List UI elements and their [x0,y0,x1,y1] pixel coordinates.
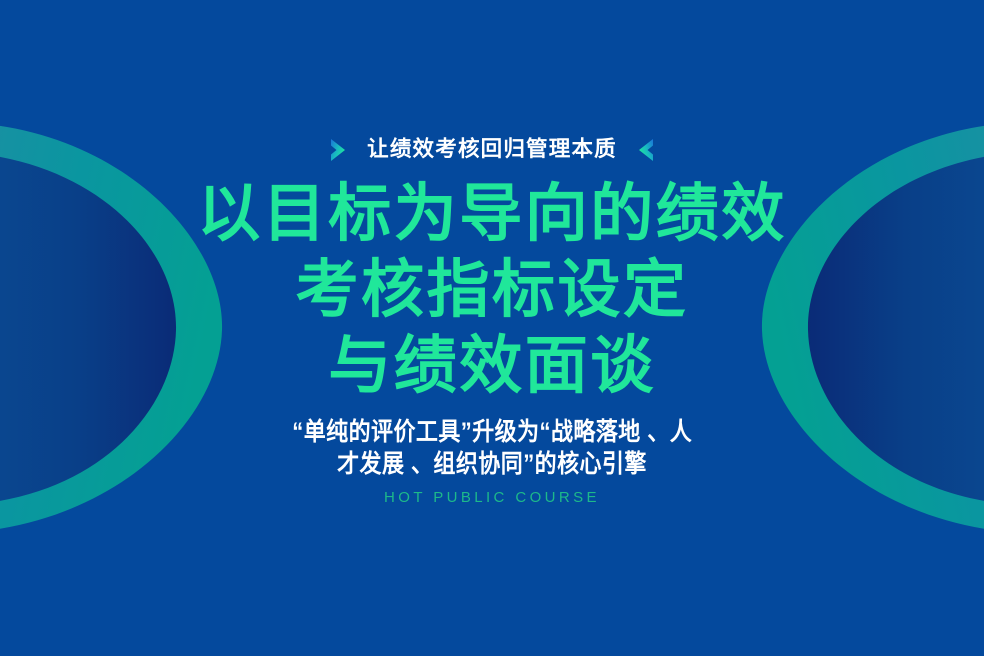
subheadline: “单纯的评价工具”升级为“战略落地 、人 才发展 、组织协同”的核心引擎 [265,416,719,480]
headline: 以目标为导向的绩效 考核指标设定 与绩效面谈 [197,176,787,404]
chevron-right-icon [328,137,350,163]
poster-content: 让绩效考核回归管理本质 以目标为导向的绩效 考核指标设定 与绩效面谈 “单纯的评… [0,0,984,656]
english-tagline: HOT PUBLIC COURSE [384,490,600,505]
subheadline-line-1: “单纯的评价工具”升级为“战略落地 、人 [292,416,692,448]
chevron-left-icon [634,137,656,163]
kicker-row: 让绩效考核回归管理本质 [328,133,656,167]
course-poster: 让绩效考核回归管理本质 以目标为导向的绩效 考核指标设定 与绩效面谈 “单纯的评… [0,0,984,656]
subheadline-line-2: 才发展 、组织协同”的核心引擎 [337,448,647,480]
headline-line-3: 与绩效面谈 [328,328,656,404]
kicker-text: 让绩效考核回归管理本质 [367,139,617,161]
headline-line-2: 考核指标设定 [296,252,689,328]
headline-line-1: 以目标为导向的绩效 [197,176,787,252]
